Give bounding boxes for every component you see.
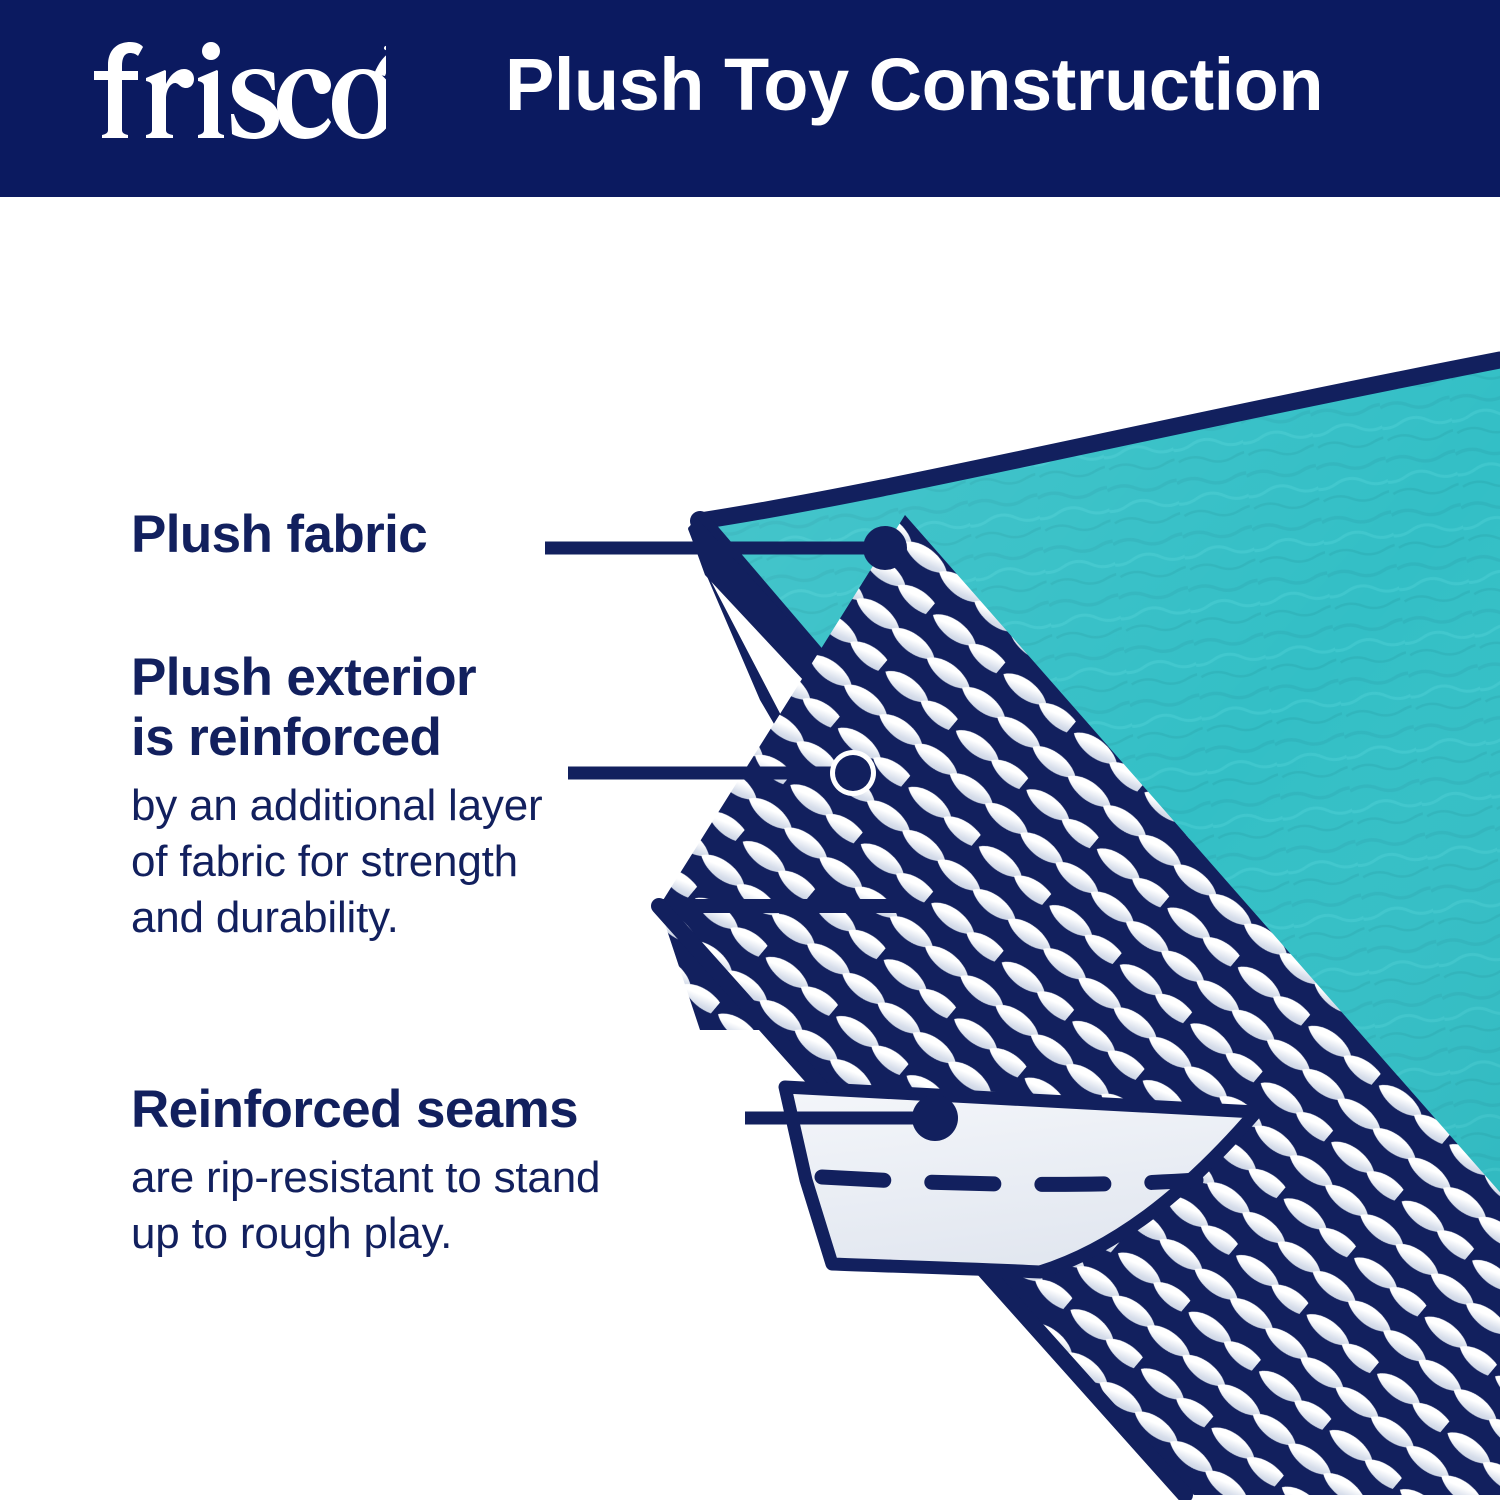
- callout-heading-line-1: Plush exterior: [131, 648, 542, 708]
- callout-plush-exterior: Plush exterior is reinforced by an addit…: [131, 648, 542, 945]
- frisco-logo: R: [86, 38, 386, 148]
- callout-heading-line-2: is reinforced: [131, 708, 542, 768]
- callout-heading: Reinforced seams: [131, 1080, 600, 1140]
- callout-body-line-1: by an additional layer: [131, 778, 542, 834]
- page-title: Plush Toy Construction: [505, 48, 1323, 122]
- callout-body-line-1: are rip-resistant to stand: [131, 1150, 600, 1206]
- callout-reinforced-seams: Reinforced seams are rip-resistant to st…: [131, 1080, 600, 1262]
- header-bar: R Plush Toy Construction: [0, 0, 1500, 197]
- frisco-wordmark-icon: R: [86, 38, 386, 148]
- leader-dot-plush-fabric: [863, 526, 907, 570]
- callout-heading: Plush fabric: [131, 505, 427, 565]
- callout-body-line-3: and durability.: [131, 890, 542, 946]
- leader-dot-plush-exterior: [835, 755, 871, 791]
- callout-body-line-2: of fabric for strength: [131, 834, 542, 890]
- callout-body: are rip-resistant to stand up to rough p…: [131, 1150, 600, 1262]
- callout-body-line-2: up to rough play.: [131, 1206, 600, 1262]
- infographic-page: R Plush Toy Construction: [0, 0, 1500, 1500]
- callout-plush-fabric: Plush fabric: [131, 505, 427, 565]
- leader-dot-reinforced-seams: [912, 1095, 958, 1141]
- callout-body: by an additional layer of fabric for str…: [131, 778, 542, 946]
